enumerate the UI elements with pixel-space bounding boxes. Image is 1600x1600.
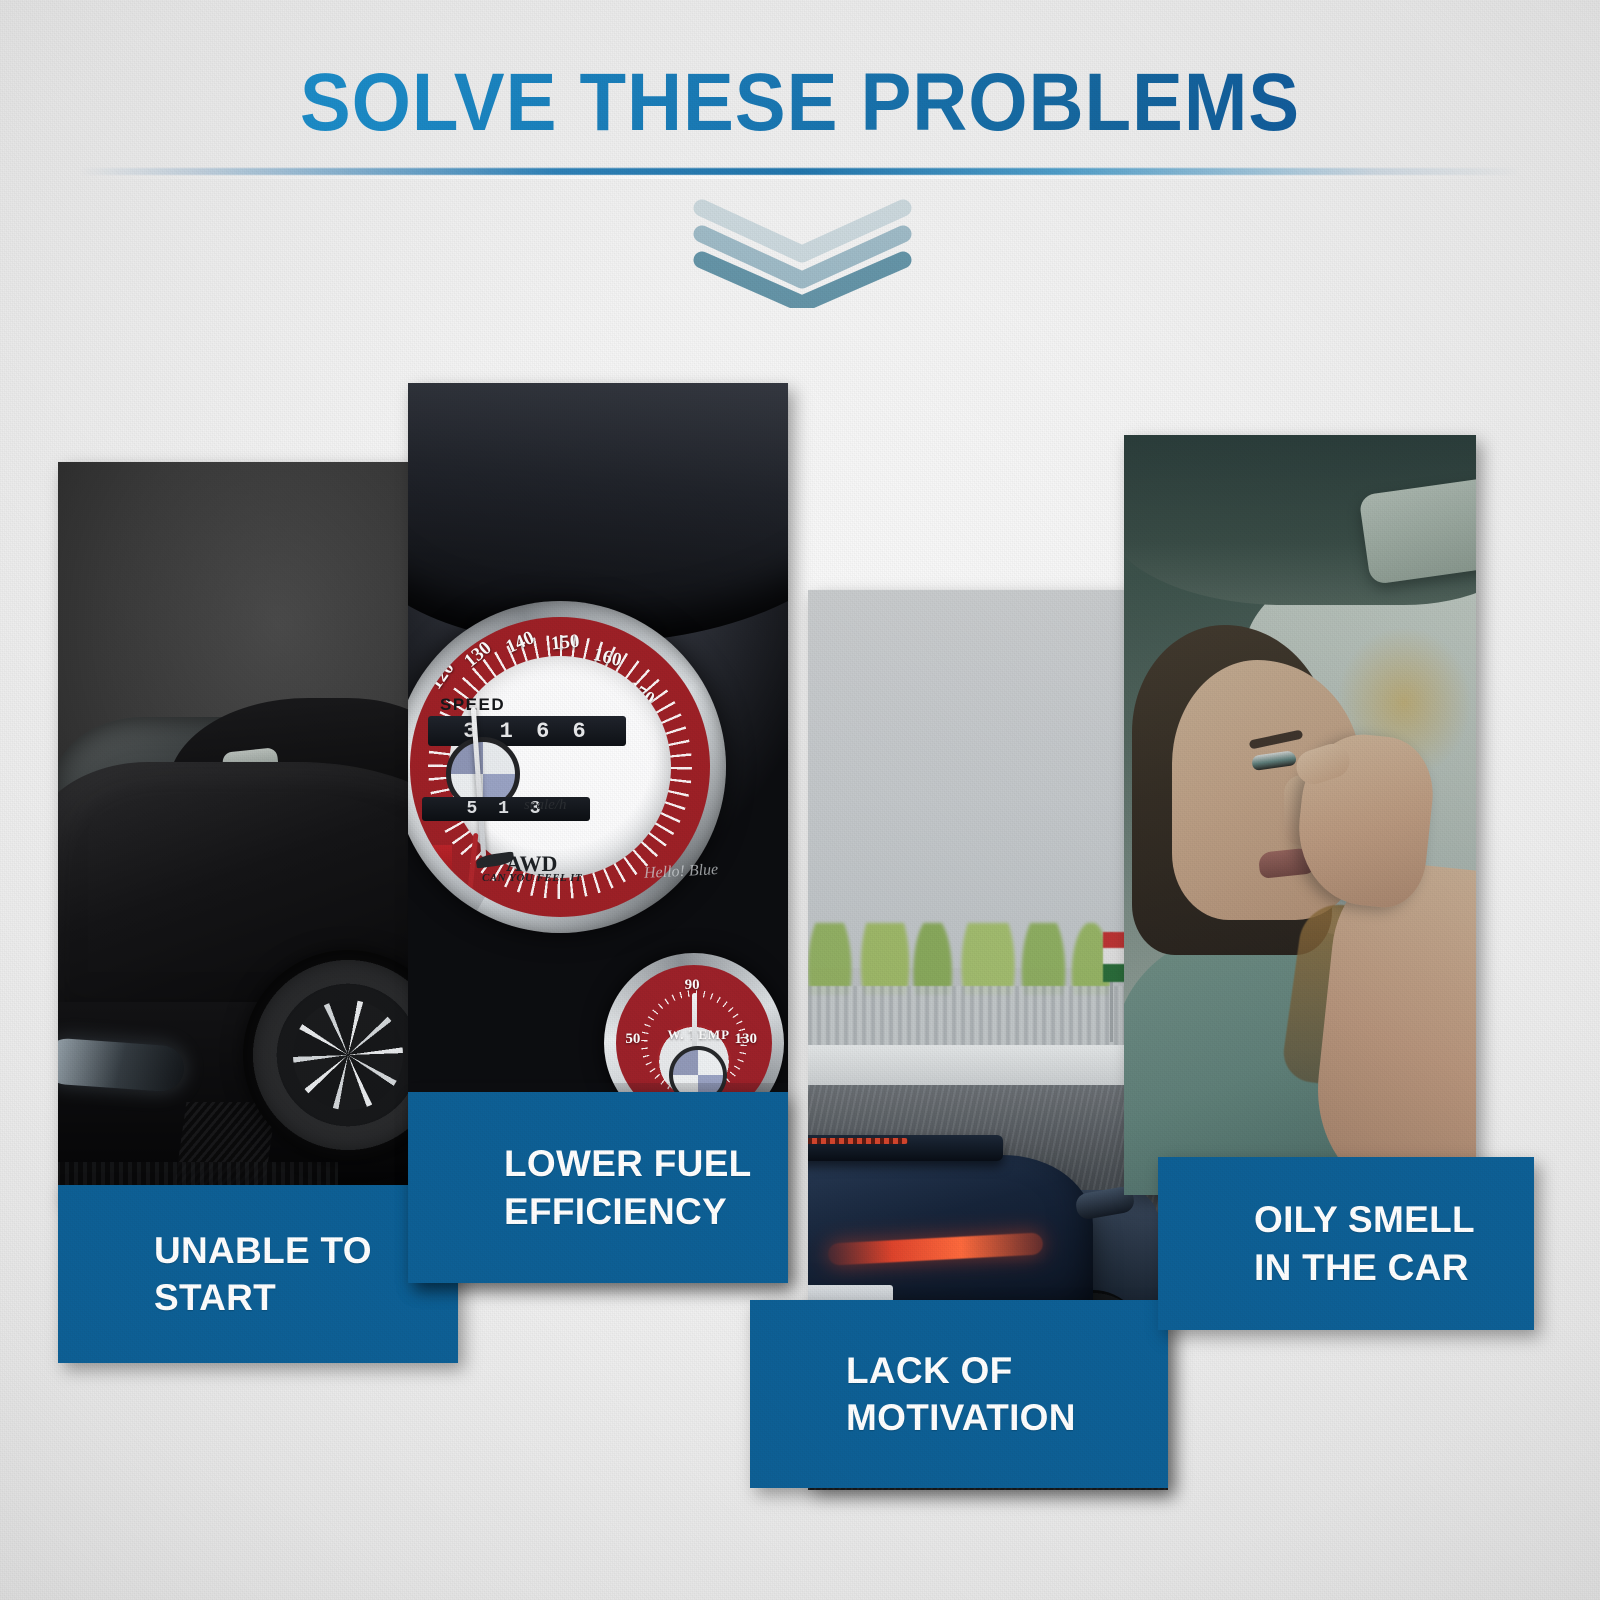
title-divider-highlight [80,175,1520,179]
speed-tick-150: 150 [550,631,581,656]
problem-caption-1-text: UNABLE TO START [58,1227,458,1322]
speed-unit-label: scale/h [524,797,567,814]
brand-tagline-label: CAN YOU FEEL IT [482,872,582,884]
speedometer-bezel: 120 130 140 150 160 170 180 190 SPEED 3 … [408,601,726,933]
title-divider [80,168,1520,175]
problem-image-4: Woman inside a car pinching her nose bec… [1124,435,1476,1195]
slide-canvas: SOLVE THESE PROBLEMS Black sports car fr… [0,0,1600,1600]
chevron-down-icon-3 [690,198,915,308]
car-wing-led-strip [808,1138,908,1144]
problem-caption-4[interactable]: OILY SMELL IN THE CAR [1158,1157,1534,1330]
problem-caption-2[interactable]: LOWER FUEL EFFICIENCY [408,1092,788,1283]
water-temp-label: W. TEMP [667,1027,730,1043]
page-title: SOLVE THESE PROBLEMS [56,56,1544,150]
car-headlight [58,1037,185,1093]
problem-caption-2-text: LOWER FUEL EFFICIENCY [408,1140,788,1235]
problem-caption-3-text: LACK OF MOTIVATION [750,1347,1168,1442]
fuel-red-bar [416,845,452,899]
problem-caption-3[interactable]: LACK OF MOTIVATION [750,1300,1168,1488]
problem-image-1: Black sports car front three-quarter vie… [58,462,458,1200]
temp-tick-50: 50 [625,1031,640,1048]
color-cast-overlay [1124,435,1476,1195]
dashboard-cowl [408,383,788,643]
problem-caption-4-text: OILY SMELL IN THE CAR [1158,1196,1534,1291]
track-barrier-wall [808,1045,1168,1090]
grandstand [808,986,1168,1049]
chevron-down-icon-group [690,198,915,308]
problem-caption-1[interactable]: UNABLE TO START [58,1185,458,1363]
temp-tick-130: 130 [735,1031,758,1048]
sky [808,590,1168,968]
odometer-reading: 3 1 6 6 [428,716,626,746]
temp-tick-90: 90 [685,977,700,994]
